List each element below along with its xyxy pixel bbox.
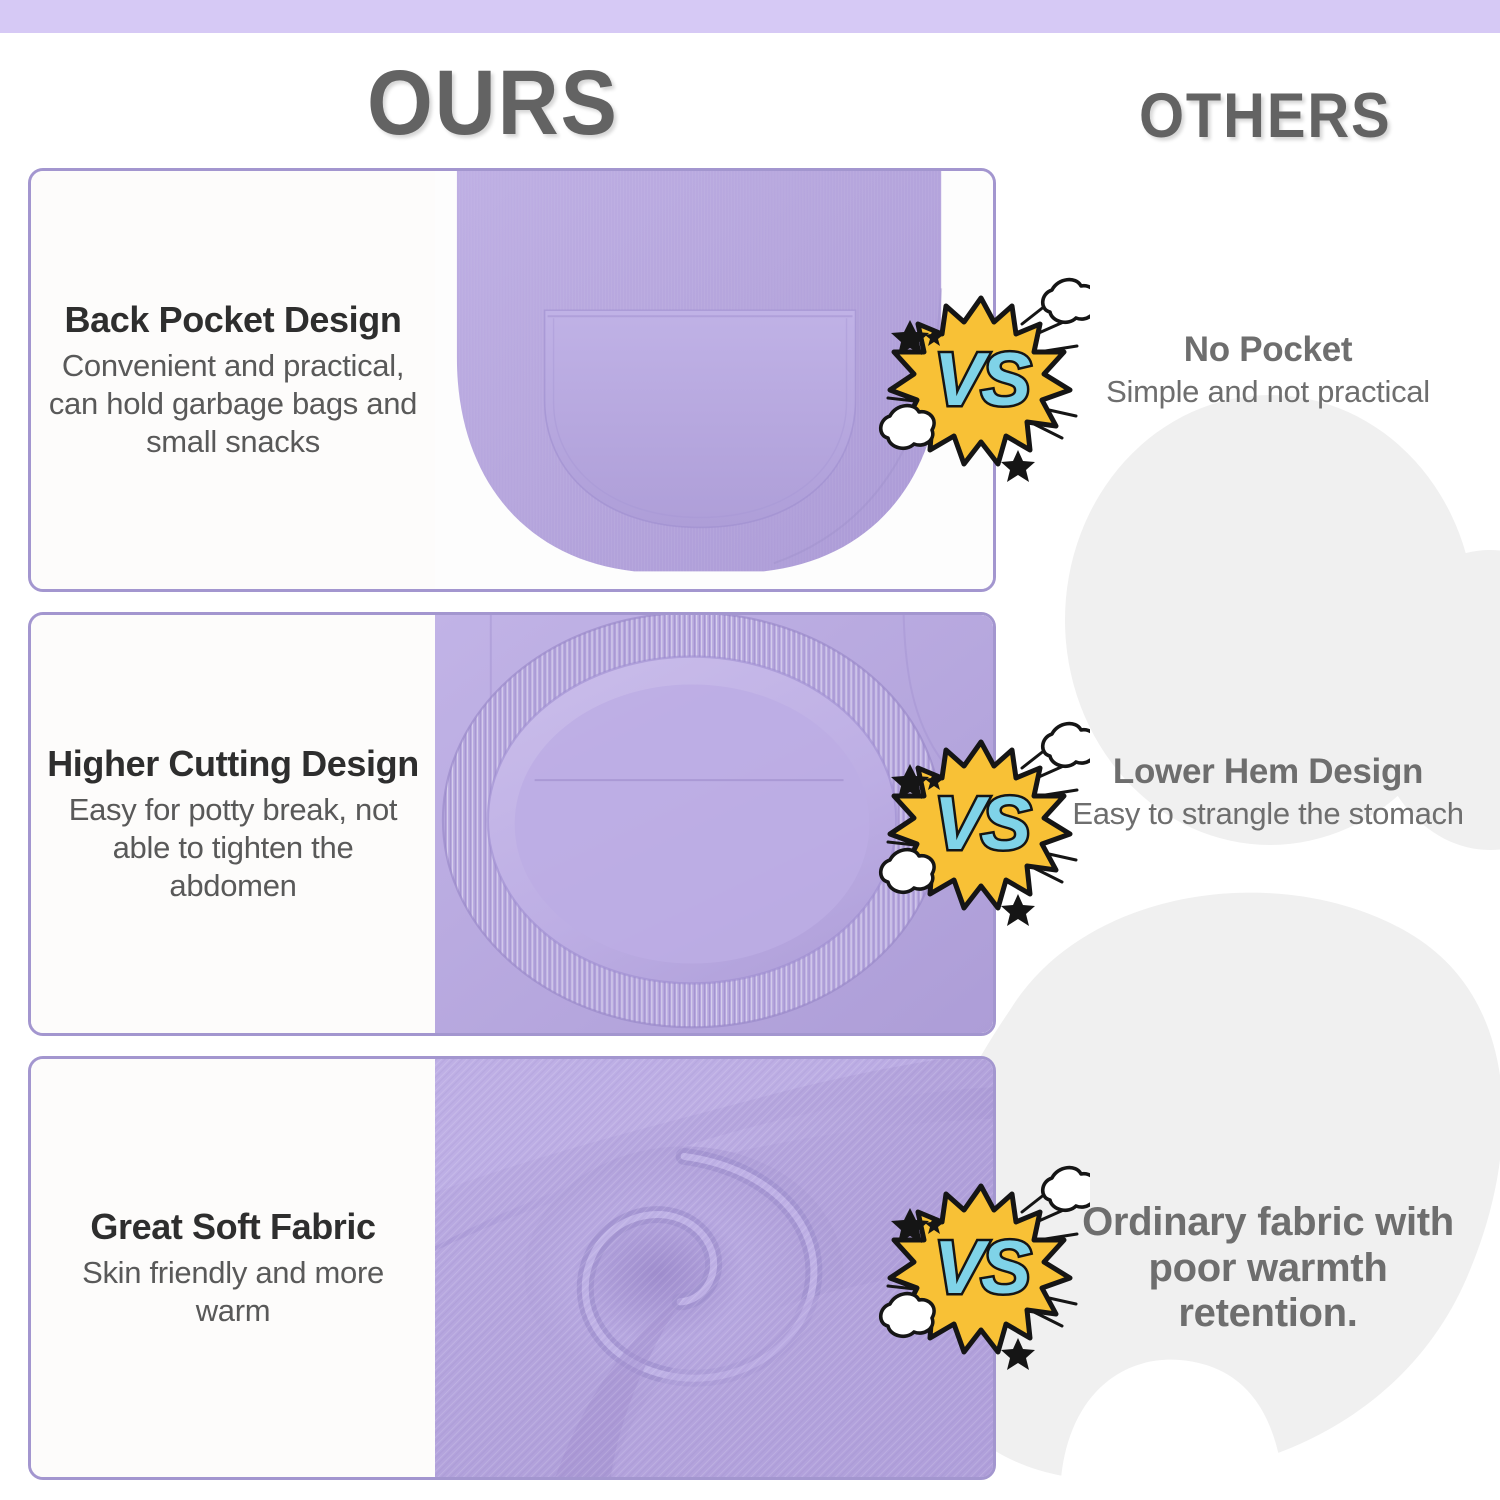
back-pocket xyxy=(545,310,856,527)
ours-text-block-2: Higher Cutting Design Easy for potty bre… xyxy=(31,615,435,1033)
ours-card-2: Higher Cutting Design Easy for potty bre… xyxy=(28,612,996,1036)
others-title-3: Ordinary fabric with poor warmth retenti… xyxy=(1058,1200,1478,1337)
others-block-2: Lower Hem Design Easy to strangle the st… xyxy=(1058,752,1478,832)
others-description-1: Simple and not practical xyxy=(1058,374,1478,411)
ours-title-3: Great Soft Fabric xyxy=(90,1207,375,1247)
ours-title-1: Back Pocket Design xyxy=(65,300,402,340)
hoodie-back-pocket-photo xyxy=(435,171,993,589)
others-block-1: No Pocket Simple and not practical xyxy=(1058,330,1478,410)
ribbed-hem-opening-photo xyxy=(435,615,993,1033)
ours-card-1: Back Pocket Design Convenient and practi… xyxy=(28,168,996,592)
others-block-3: Ordinary fabric with poor warmth retenti… xyxy=(1058,1200,1478,1341)
ours-description-3: Skin friendly and more warm xyxy=(47,1254,419,1330)
others-title-1: No Pocket xyxy=(1058,330,1478,370)
ours-title-2: Higher Cutting Design xyxy=(47,744,419,784)
ours-text-block-3: Great Soft Fabric Skin friendly and more… xyxy=(31,1059,435,1477)
soft-fabric-swirl-photo xyxy=(435,1059,993,1477)
others-title-2: Lower Hem Design xyxy=(1058,752,1478,792)
ours-card-3: Great Soft Fabric Skin friendly and more… xyxy=(28,1056,996,1480)
others-description-2: Easy to strangle the stomach xyxy=(1058,796,1478,833)
ours-text-block-1: Back Pocket Design Convenient and practi… xyxy=(31,171,435,589)
ours-description-2: Easy for potty break, not able to tighte… xyxy=(47,791,419,904)
ours-description-1: Convenient and practical, can hold garba… xyxy=(47,347,419,460)
